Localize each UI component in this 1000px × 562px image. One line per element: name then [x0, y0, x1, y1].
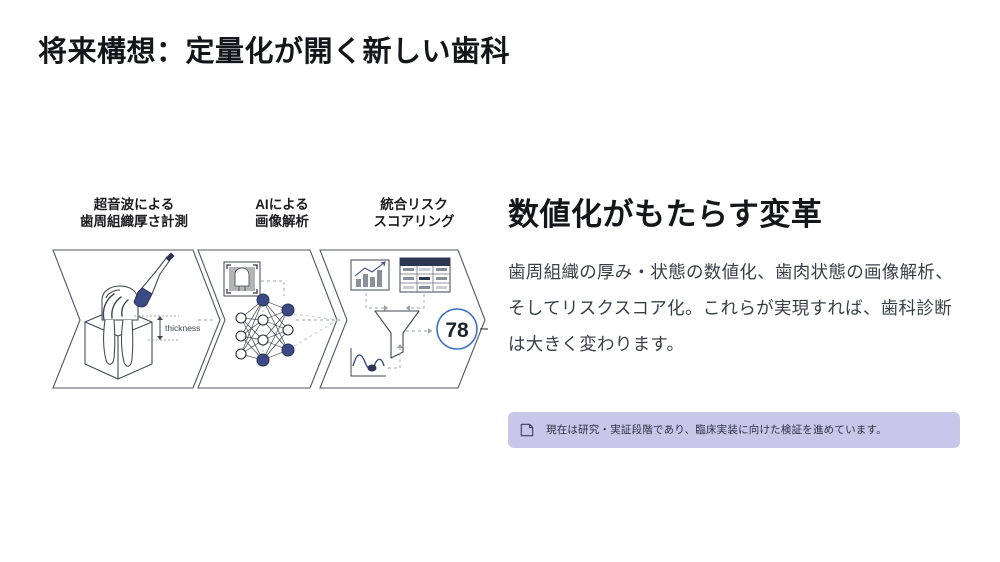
section-body-text: 歯周組織の厚み・状態の数値化、歯肉状態の画像解析、そしてリスクスコア化。これらが…: [508, 255, 960, 363]
note-document-icon: [520, 423, 534, 437]
process-flow-diagram: 超音波による 歯周組織厚さ計測 AIによる 画像解析 統合リスク スコアリング: [48, 196, 488, 396]
score-value: 78: [445, 319, 469, 342]
stage-label-risk-scoring: 統合リスク スコアリング: [344, 196, 484, 231]
data-table-icon: [400, 258, 450, 292]
stage-label-ultrasound: 超音波による 歯周組織厚さ計測: [54, 196, 214, 231]
scan-frame-tooth-icon: [224, 262, 260, 296]
stage-label-group: 超音波による 歯周組織厚さ計測 AIによる 画像解析 統合リスク スコアリング: [48, 196, 488, 248]
status-note-callout: 現在は研究・実証段階であり、臨床実装に向けた検証を進めています。: [508, 412, 960, 448]
page-title: 将来構想：定量化が開く新しい歯科: [38, 28, 510, 70]
status-note-text: 現在は研究・実証段階であり、臨床実装に向けた検証を進めています。: [546, 424, 887, 437]
process-flow-graphic: thickness: [48, 248, 488, 393]
score-badge: 78: [437, 309, 477, 349]
bar-chart-icon: [351, 260, 389, 290]
thickness-label: thickness: [165, 323, 200, 333]
stage-label-ai-imaging: AIによる 画像解析: [216, 196, 348, 231]
right-content-column: 数値化がもたらす変革 歯周組織の厚み・状態の数値化、歯肉状態の画像解析、そしてリ…: [508, 196, 960, 363]
section-heading: 数値化がもたらす変革: [508, 196, 960, 233]
slide-root: 将来構想：定量化が開く新しい歯科 超音波による 歯周組織厚さ計測 AIによる 画…: [0, 0, 1000, 562]
